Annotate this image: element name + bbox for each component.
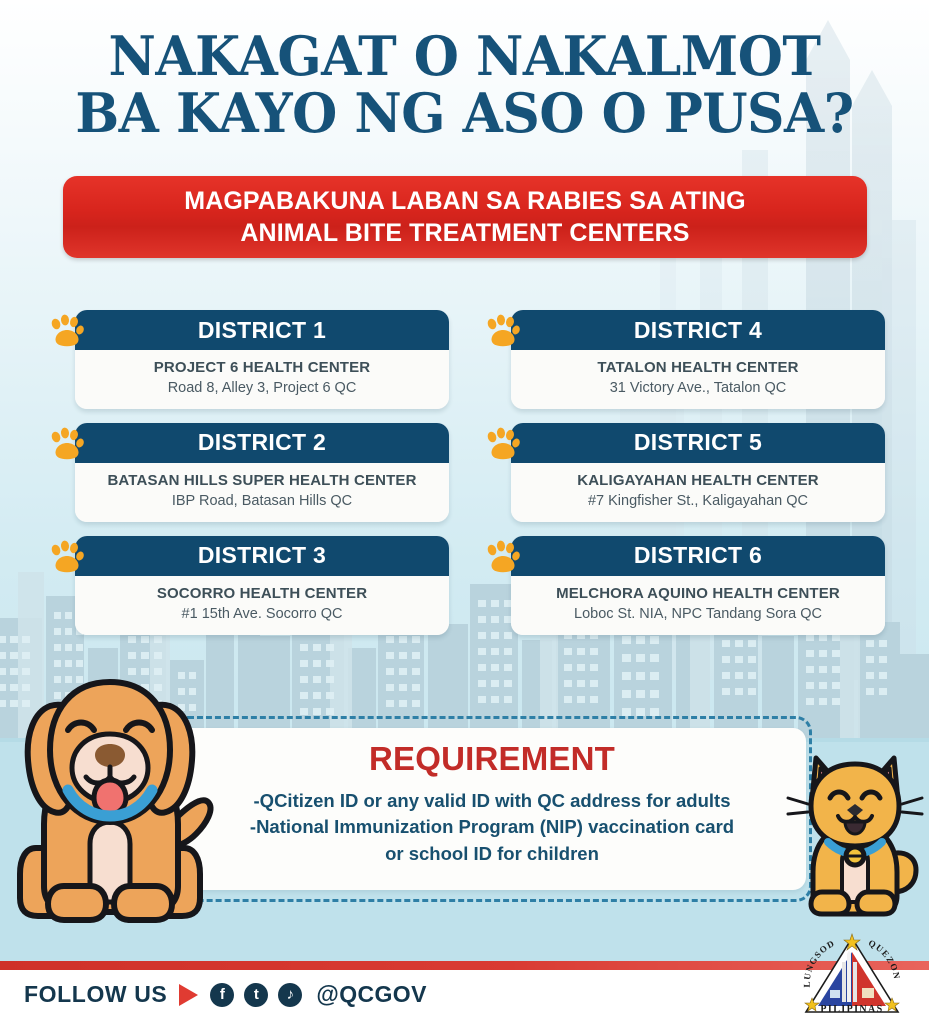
district-card[interactable]: DISTRICT 5 KALIGAYAHAN HEALTH CENTER #7 … (483, 423, 885, 522)
dog-illustration (6, 672, 230, 940)
requirement-line-2: -National Immunization Program (NIP) vac… (250, 814, 734, 840)
district-title: DISTRICT 1 (75, 310, 449, 350)
health-center-address: 31 Victory Ave., Tatalon QC (521, 379, 875, 398)
subtitle-banner: MAGPABAKUNA LABAN SA RABIES SA ATING ANI… (63, 176, 867, 258)
district-body: MELCHORA AQUINO HEALTH CENTER Loboc St. … (511, 576, 885, 635)
social-handle: @QCGOV (316, 981, 426, 1008)
district-card-inner: DISTRICT 5 KALIGAYAHAN HEALTH CENTER #7 … (511, 423, 885, 522)
banner-line-2: ANIMAL BITE TREATMENT CENTERS (240, 217, 689, 249)
title-line-2: BA KAYO NG ASO O PUSA? (19, 85, 911, 142)
district-card[interactable]: DISTRICT 6 MELCHORA AQUINO HEALTH CENTER… (483, 536, 885, 635)
health-center-name: TATALON HEALTH CENTER (521, 359, 875, 378)
district-title: DISTRICT 5 (511, 423, 885, 463)
health-center-name: BATASAN HILLS SUPER HEALTH CENTER (85, 472, 439, 491)
health-center-address: Loboc St. NIA, NPC Tandang Sora QC (521, 605, 875, 624)
twitter-icon[interactable]: t (244, 983, 268, 1007)
health-center-name: SOCORRO HEALTH CENTER (85, 585, 439, 604)
district-card[interactable]: DISTRICT 1 PROJECT 6 HEALTH CENTER Road … (47, 310, 449, 409)
footer-red-stripe (0, 961, 929, 970)
requirement-line-1: -QCitizen ID or any valid ID with QC add… (254, 788, 731, 814)
facebook-icon[interactable]: f (210, 983, 234, 1007)
requirement-title: REQUIREMENT (369, 740, 615, 778)
poster-canvas: NAKAGAT O NAKALMOT BA KAYO NG ASO O PUSA… (0, 0, 929, 1024)
seal-bottom-text: PILIPINAS (820, 1004, 883, 1015)
title-line-1: NAKAGAT O NAKALMOT (19, 28, 911, 85)
district-body: SOCORRO HEALTH CENTER #1 15th Ave. Socor… (75, 576, 449, 635)
paw-print-icon (483, 312, 523, 352)
district-card[interactable]: DISTRICT 3 SOCORRO HEALTH CENTER #1 15th… (47, 536, 449, 635)
page-title: NAKAGAT O NAKALMOT BA KAYO NG ASO O PUSA… (0, 28, 929, 142)
play-triangle-icon (179, 984, 198, 1006)
health-center-address: Road 8, Alley 3, Project 6 QC (85, 379, 439, 398)
health-center-address: #7 Kingfisher St., Kaligayahan QC (521, 492, 875, 511)
district-body: PROJECT 6 HEALTH CENTER Road 8, Alley 3,… (75, 350, 449, 409)
paw-print-icon (47, 425, 87, 465)
health-center-name: MELCHORA AQUINO HEALTH CENTER (521, 585, 875, 604)
district-title: DISTRICT 4 (511, 310, 885, 350)
requirement-panel: REQUIREMENT -QCitizen ID or any valid ID… (178, 728, 806, 890)
paw-print-icon (483, 538, 523, 578)
district-title: DISTRICT 2 (75, 423, 449, 463)
cat-illustration (786, 742, 924, 924)
follow-us-row: FOLLOW US f t ♪ @QCGOV (24, 981, 427, 1008)
district-grid: DISTRICT 1 PROJECT 6 HEALTH CENTER Road … (47, 310, 887, 635)
health-center-name: PROJECT 6 HEALTH CENTER (85, 359, 439, 378)
district-card-inner: DISTRICT 4 TATALON HEALTH CENTER 31 Vict… (511, 310, 885, 409)
paw-print-icon (47, 312, 87, 352)
district-card-inner: DISTRICT 2 BATASAN HILLS SUPER HEALTH CE… (75, 423, 449, 522)
tiktok-icon[interactable]: ♪ (278, 983, 302, 1007)
district-card-inner: DISTRICT 3 SOCORRO HEALTH CENTER #1 15th… (75, 536, 449, 635)
follow-us-label: FOLLOW US (24, 981, 167, 1008)
paw-print-icon (483, 425, 523, 465)
district-card[interactable]: DISTRICT 4 TATALON HEALTH CENTER 31 Vict… (483, 310, 885, 409)
district-title: DISTRICT 6 (511, 536, 885, 576)
requirement-line-3: or school ID for children (385, 841, 599, 867)
health-center-address: #1 15th Ave. Socorro QC (85, 605, 439, 624)
banner-line-1: MAGPABAKUNA LABAN SA RABIES SA ATING (184, 185, 745, 217)
district-card-inner: DISTRICT 1 PROJECT 6 HEALTH CENTER Road … (75, 310, 449, 409)
district-body: BATASAN HILLS SUPER HEALTH CENTER IBP Ro… (75, 463, 449, 522)
district-body: TATALON HEALTH CENTER 31 Victory Ave., T… (511, 350, 885, 409)
paw-print-icon (47, 538, 87, 578)
district-card-inner: DISTRICT 6 MELCHORA AQUINO HEALTH CENTER… (511, 536, 885, 635)
quezon-city-seal: LUNGSOD QUEZON PILIPINAS (800, 932, 904, 1020)
health-center-address: IBP Road, Batasan Hills QC (85, 492, 439, 511)
health-center-name: KALIGAYAHAN HEALTH CENTER (521, 472, 875, 491)
district-body: KALIGAYAHAN HEALTH CENTER #7 Kingfisher … (511, 463, 885, 522)
district-card[interactable]: DISTRICT 2 BATASAN HILLS SUPER HEALTH CE… (47, 423, 449, 522)
district-title: DISTRICT 3 (75, 536, 449, 576)
